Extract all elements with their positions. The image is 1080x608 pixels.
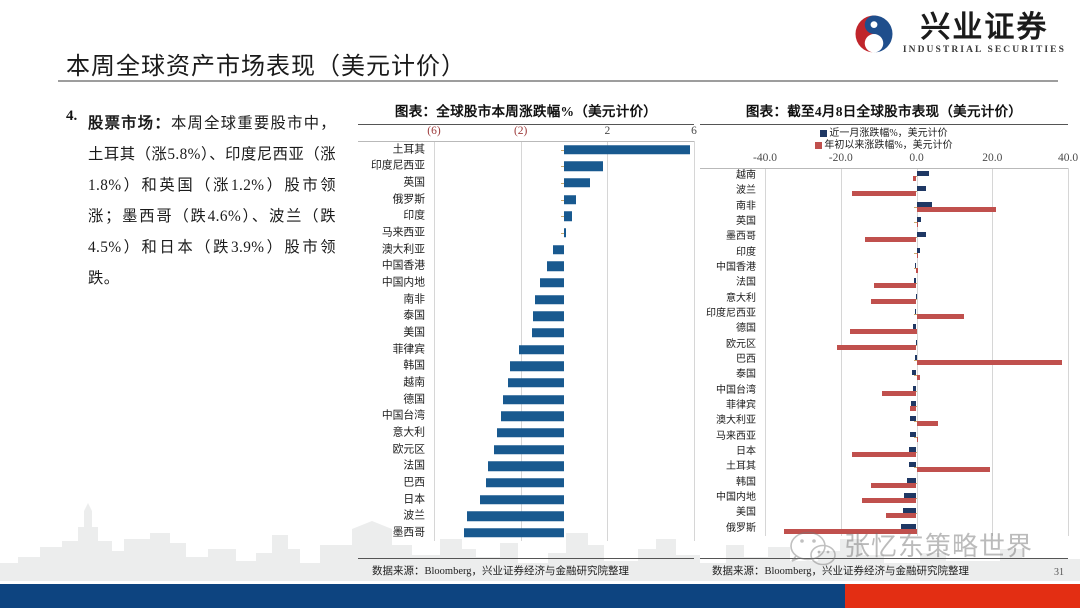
chart-category-row: 德国	[358, 391, 694, 408]
chart-category-row: 美国	[700, 506, 1068, 521]
category-label: 中国香港	[716, 263, 760, 273]
chart-category-row: 印度尼西亚	[358, 158, 694, 175]
category-label: 中国香港	[382, 261, 429, 272]
chart-category-row: 马来西亚	[700, 429, 1068, 444]
chart-category-row: 中国台湾	[358, 408, 694, 425]
chart-category-row: 英国	[358, 175, 694, 192]
chart-bar	[917, 207, 997, 212]
category-label: 南非	[736, 202, 760, 212]
chart-category-row: 墨西哥	[358, 525, 694, 542]
category-label: 俄罗斯	[726, 524, 760, 534]
chart-bar	[503, 395, 564, 405]
chart-category-row: 英国	[700, 214, 1068, 229]
category-label: 欧元区	[726, 340, 760, 350]
chart-bar	[510, 362, 564, 372]
body-text-block: 4. 股票市场：本周全球重要股市中，土耳其（涨5.8%）、印度尼西亚（涨1.8%…	[66, 108, 336, 294]
chart-category-row: 土耳其	[358, 141, 694, 158]
category-label: 马来西亚	[716, 432, 760, 442]
chart-bar	[909, 462, 917, 467]
chart-bar	[532, 328, 565, 338]
chart-bar	[886, 513, 916, 518]
chart-category-row: 法国	[700, 276, 1068, 291]
chart-category-row: 法国	[358, 458, 694, 475]
footer-bar-blue	[0, 584, 845, 608]
category-label: 泰国	[403, 311, 429, 322]
body-lead: 股票市场：	[88, 115, 171, 132]
chart-title-weekly: 图表：全球股市本周涨跌幅%（美元计价）	[358, 100, 694, 120]
chart-bar	[535, 295, 564, 305]
x-axis-ytd: -40.0-20.00.020.040.0	[700, 152, 1068, 168]
chart-bar	[882, 391, 916, 396]
chart-bar	[917, 437, 919, 442]
chart-category-row: 菲律宾	[358, 341, 694, 358]
chart-bar	[916, 268, 918, 273]
chart-category-row: 日本	[700, 444, 1068, 459]
x-tick-label: (2)	[514, 125, 527, 137]
chart-bar	[494, 445, 564, 455]
chart-bar	[874, 283, 916, 288]
chart-bar	[910, 416, 917, 421]
chart-bar	[540, 278, 564, 288]
chart-category-row: 意大利	[358, 425, 694, 442]
chart-category-row: 韩国	[358, 358, 694, 375]
chart-title-divider-ytd	[700, 124, 1068, 125]
chart-category-row: 中国香港	[358, 258, 694, 275]
chart-bar	[917, 375, 920, 380]
category-label: 俄罗斯	[393, 194, 429, 205]
category-label: 意大利	[393, 428, 429, 439]
chart-category-row: 巴西	[358, 475, 694, 492]
footer-bar	[0, 584, 1080, 608]
chart-category-row: 意大利	[700, 291, 1068, 306]
chart-bar	[564, 195, 576, 205]
gridline	[694, 141, 695, 541]
chart-category-row: 南非	[358, 291, 694, 308]
category-label: 欧元区	[393, 444, 429, 455]
chart-category-row: 泰国	[700, 368, 1068, 383]
chart-category-row: 俄罗斯	[358, 191, 694, 208]
chart-bar	[917, 421, 938, 426]
chart-bar	[852, 191, 916, 196]
chart-category-row: 中国内地	[358, 275, 694, 292]
category-label: 中国内地	[382, 278, 429, 289]
chart-category-row: 墨西哥	[700, 230, 1068, 245]
chart-bar	[917, 232, 927, 237]
category-label: 中国台湾	[716, 386, 760, 396]
chart-bar	[862, 498, 917, 503]
x-tick-label: 20.0	[982, 152, 1002, 164]
category-label: 波兰	[403, 511, 429, 522]
chart-category-row: 菲律宾	[700, 398, 1068, 413]
x-tick-label: 0.0	[909, 152, 923, 164]
chart-bar	[553, 245, 564, 255]
chart-category-row: 土耳其	[700, 460, 1068, 475]
category-label: 马来西亚	[382, 228, 429, 239]
chart-bar	[533, 312, 564, 322]
chart-category-row: 俄罗斯	[700, 521, 1068, 536]
category-label: 土耳其	[726, 462, 760, 472]
category-label: 巴西	[736, 355, 760, 365]
chart-category-row: 中国内地	[700, 490, 1068, 505]
chart-bar	[519, 345, 565, 355]
category-label: 韩国	[403, 361, 429, 372]
chart-category-row: 澳大利亚	[700, 414, 1068, 429]
category-label: 菲律宾	[393, 344, 429, 355]
chart-bar	[564, 228, 566, 238]
chart-bar	[497, 428, 564, 438]
category-label: 墨西哥	[726, 232, 760, 242]
chart-bar	[871, 299, 916, 304]
chart-category-row: 澳大利亚	[358, 241, 694, 258]
plot-area-weekly: 土耳其印度尼西亚英国俄罗斯印度马来西亚澳大利亚中国香港中国内地南非泰国美国菲律宾…	[358, 141, 694, 541]
chart-category-row: 韩国	[700, 475, 1068, 490]
chart-bar	[913, 176, 917, 181]
brand-logo: 兴业证券 INDUSTRIAL SECURITIES	[852, 12, 1066, 56]
chart-category-row: 美国	[358, 325, 694, 342]
category-label: 印度	[403, 211, 429, 222]
category-label: 巴西	[403, 478, 429, 489]
x-tick-label: -20.0	[829, 152, 853, 164]
chart-title-ytd: 图表：截至4月8日全球股市表现（美元计价）	[700, 100, 1068, 120]
category-label: 印度	[736, 248, 760, 258]
chart-bar	[871, 483, 916, 488]
chart-bar	[486, 478, 564, 488]
chart-category-row: 泰国	[358, 308, 694, 325]
source-divider-left	[358, 558, 694, 559]
category-label: 菲律宾	[726, 401, 760, 411]
x-tick-label: (6)	[427, 125, 440, 137]
page-number: 31	[1054, 567, 1064, 578]
chart-bar	[464, 528, 564, 538]
chart-bar	[917, 222, 919, 227]
category-label: 美国	[403, 328, 429, 339]
chart-panel-weekly: 图表：全球股市本周涨跌幅%（美元计价） (6)(2)26 土耳其印度尼西亚英国俄…	[358, 100, 694, 541]
chart-bar	[910, 406, 916, 411]
chart-category-row: 欧元区	[700, 337, 1068, 352]
chart-bar	[865, 237, 916, 242]
source-note-right: 数据来源：Bloomberg，兴业证券经济与金融研究院整理	[712, 563, 969, 578]
category-label: 越南	[403, 378, 429, 389]
category-label: 日本	[403, 494, 429, 505]
chart-bar	[467, 512, 565, 522]
legend-entry: 年初以来涨跌幅%，美元计价	[700, 140, 1068, 152]
chart-category-row: 越南	[700, 168, 1068, 183]
gridline	[1068, 168, 1069, 536]
chart-category-row: 越南	[358, 375, 694, 392]
chart-category-row: 德国	[700, 322, 1068, 337]
chart-category-row: 波兰	[358, 508, 694, 525]
chart-category-row: 日本	[358, 491, 694, 508]
legend-label: 近一月涨跌幅%，美元计价	[829, 128, 947, 139]
chart-bar	[564, 162, 603, 172]
chart-bar	[917, 314, 964, 319]
chart-category-row: 南非	[700, 199, 1068, 214]
chart-bar	[564, 178, 590, 188]
chart-bar	[488, 462, 564, 472]
chart-category-row: 马来西亚	[358, 225, 694, 242]
category-label: 法国	[403, 461, 429, 472]
category-label: 英国	[736, 217, 760, 227]
category-label: 印度尼西亚	[706, 309, 760, 319]
chart-category-row: 欧元区	[358, 441, 694, 458]
plot-area-ytd: 越南波兰南非英国墨西哥印度中国香港法国意大利印度尼西亚德国欧元区巴西泰国中国台湾…	[700, 168, 1068, 536]
x-tick-label: 6	[691, 125, 697, 137]
category-label: 中国内地	[716, 493, 760, 503]
category-label: 韩国	[736, 478, 760, 488]
chart-legend-ytd: 近一月涨跌幅%，美元计价年初以来涨跌幅%，美元计价	[700, 128, 1068, 152]
category-label: 德国	[736, 324, 760, 334]
category-label: 南非	[403, 294, 429, 305]
legend-entry: 近一月涨跌幅%，美元计价	[700, 128, 1068, 140]
chart-category-row: 巴西	[700, 352, 1068, 367]
title-divider	[58, 80, 1058, 82]
x-tick-label: 40.0	[1058, 152, 1078, 164]
chart-bar	[564, 145, 690, 155]
chart-bar	[852, 452, 916, 457]
list-number: 4.	[66, 108, 88, 294]
chart-category-row: 中国香港	[700, 260, 1068, 275]
category-label: 墨西哥	[393, 528, 429, 539]
x-tick-label: 2	[604, 125, 610, 137]
category-label: 英国	[403, 178, 429, 189]
chart-bar	[917, 171, 929, 176]
logo-swirl-icon	[852, 12, 896, 56]
chart-bar	[837, 345, 917, 350]
chart-category-row: 印度	[700, 245, 1068, 260]
body-body: 本周全球重要股市中，土耳其（涨5.8%）、印度尼西亚（涨1.8%）和英国（涨1.…	[88, 115, 336, 287]
chart-bar	[917, 253, 919, 258]
category-label: 意大利	[726, 294, 760, 304]
legend-label: 年初以来涨跌幅%，美元计价	[824, 140, 952, 151]
category-label: 中国台湾	[382, 411, 429, 422]
footer-bar-red	[845, 584, 1080, 608]
chart-bar	[564, 212, 572, 222]
legend-swatch	[815, 142, 822, 149]
x-axis-weekly: (6)(2)26	[358, 125, 694, 141]
category-label: 土耳其	[393, 144, 429, 155]
legend-swatch	[820, 130, 827, 137]
chart-bar	[850, 329, 916, 334]
chart-category-row: 波兰	[700, 184, 1068, 199]
category-label: 越南	[736, 171, 760, 181]
source-note-left: 数据来源：Bloomberg，兴业证券经济与金融研究院整理	[372, 563, 629, 578]
source-divider-right	[700, 558, 1068, 559]
category-label: 法国	[736, 278, 760, 288]
logo-name-en: INDUSTRIAL SECURITIES	[903, 46, 1066, 56]
category-label: 泰国	[736, 370, 760, 380]
x-tick-label: -40.0	[753, 152, 777, 164]
chart-bar	[917, 360, 1063, 365]
slide-root: 兴业证券 INDUSTRIAL SECURITIES 本周全球资产市场表现（美元…	[0, 0, 1080, 608]
chart-bar	[547, 262, 564, 272]
body-paragraph: 股票市场：本周全球重要股市中，土耳其（涨5.8%）、印度尼西亚（涨1.8%）和英…	[88, 108, 336, 294]
chart-category-row: 中国台湾	[700, 383, 1068, 398]
chart-panel-ytd: 图表：截至4月8日全球股市表现（美元计价） 近一月涨跌幅%，美元计价年初以来涨跌…	[700, 100, 1068, 536]
category-label: 日本	[736, 447, 760, 457]
category-label: 波兰	[736, 186, 760, 196]
logo-name-cn: 兴业证券	[920, 13, 1048, 43]
page-title: 本周全球资产市场表现（美元计价）	[66, 46, 466, 81]
chart-bar	[480, 495, 565, 505]
chart-bar	[917, 186, 926, 191]
chart-bar	[508, 378, 564, 388]
category-label: 澳大利亚	[716, 416, 760, 426]
chart-category-row: 印度尼西亚	[700, 306, 1068, 321]
chart-category-row: 印度	[358, 208, 694, 225]
chart-bar	[784, 529, 917, 534]
category-label: 澳大利亚	[382, 244, 429, 255]
category-label: 美国	[736, 508, 760, 518]
chart-bar	[917, 467, 991, 472]
category-label: 印度尼西亚	[371, 161, 429, 172]
category-label: 德国	[403, 394, 429, 405]
chart-bar	[501, 412, 564, 422]
